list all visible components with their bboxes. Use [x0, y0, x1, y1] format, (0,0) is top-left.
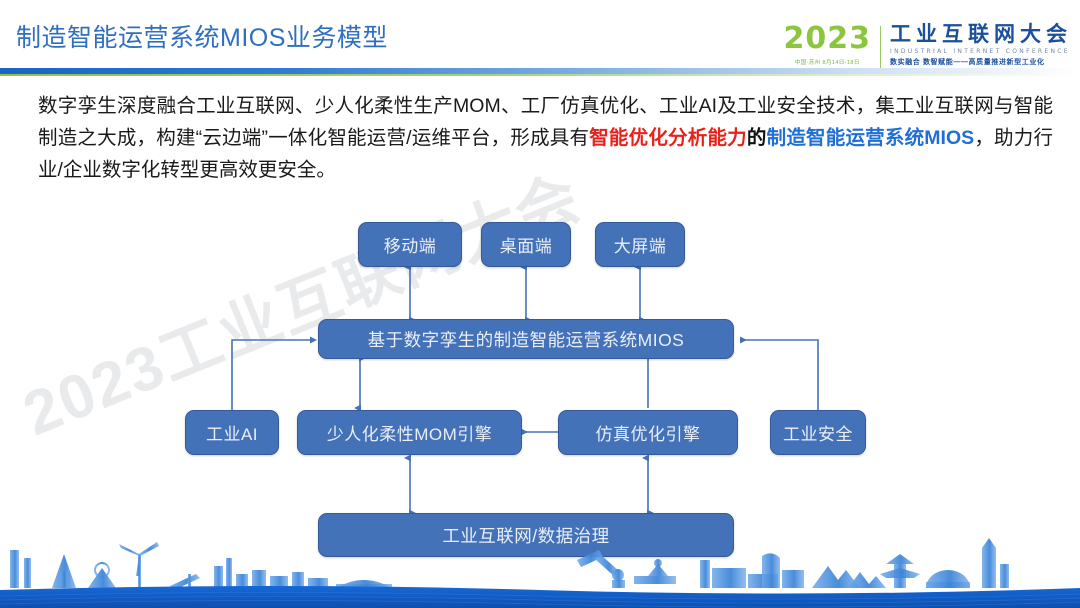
- logo-year-block: 2023 中国·苏州 8月14日-18日: [784, 24, 881, 66]
- header-rule-green: [0, 74, 1080, 76]
- node-bigscreen-client-label: 大屏端: [614, 232, 667, 257]
- logo-year: 2023: [784, 24, 872, 54]
- node-desktop-client-label: 桌面端: [500, 232, 553, 257]
- node-bigscreen-client[interactable]: 大屏端: [595, 222, 685, 267]
- page-title: 制造智能运营系统MIOS业务模型: [16, 18, 388, 54]
- node-industrial-security[interactable]: 工业安全: [770, 410, 866, 455]
- logo-text-block: 工业互联网大会 INDUSTRIAL INTERNET CONFERENCE 数…: [881, 24, 1072, 67]
- node-industrial-security-label: 工业安全: [783, 420, 853, 445]
- skyline-shapes: [577, 538, 1009, 588]
- logo-date-location: 中国·苏州 8月14日-18日: [795, 58, 860, 66]
- node-core-mios-label: 基于数字孪生的制造智能运营系统MIOS: [368, 327, 685, 352]
- logo-slogan: 数实融合 数智赋能——高质量推进新型工业化: [890, 57, 1072, 67]
- node-mom-engine[interactable]: 少人化柔性MOM引擎: [297, 410, 522, 455]
- skyline-shapes-right: [10, 542, 392, 590]
- logo-conference-name-cn: 工业互联网大会: [890, 24, 1072, 46]
- paragraph-highlight-blue: 制造智能运营系统MIOS: [767, 127, 975, 149]
- node-industrial-ai[interactable]: 工业AI: [185, 410, 279, 455]
- node-desktop-client[interactable]: 桌面端: [481, 222, 571, 267]
- node-industrial-ai-label: 工业AI: [206, 420, 258, 445]
- node-mobile-client[interactable]: 移动端: [358, 222, 462, 267]
- paragraph-segment-2: 的: [747, 127, 767, 149]
- slide-canvas: 制造智能运营系统MIOS业务模型 2023 中国·苏州 8月14日-18日 工业…: [0, 0, 1080, 608]
- logo-conference-name-en: INDUSTRIAL INTERNET CONFERENCE: [890, 48, 1072, 55]
- architecture-diagram: 移动端 桌面端 大屏端 基于数字孪生的制造智能运营系统MIOS 工业AI 少人化…: [0, 200, 1080, 560]
- footer-skyline-graphic: [0, 530, 1080, 608]
- body-paragraph: 数字孪生深度融合工业互联网、少人化柔性生产MOM、工厂仿真优化、工业AI及工业安…: [38, 90, 1053, 186]
- node-simulation-engine[interactable]: 仿真优化引擎: [558, 410, 738, 455]
- paragraph-highlight-red: 智能优化分析能力: [589, 127, 747, 149]
- node-mobile-client-label: 移动端: [384, 232, 437, 257]
- footer-decoration: [0, 530, 1080, 608]
- node-simulation-engine-label: 仿真优化引擎: [596, 420, 701, 445]
- node-mom-engine-label: 少人化柔性MOM引擎: [327, 420, 493, 445]
- node-core-mios[interactable]: 基于数字孪生的制造智能运营系统MIOS: [318, 319, 734, 359]
